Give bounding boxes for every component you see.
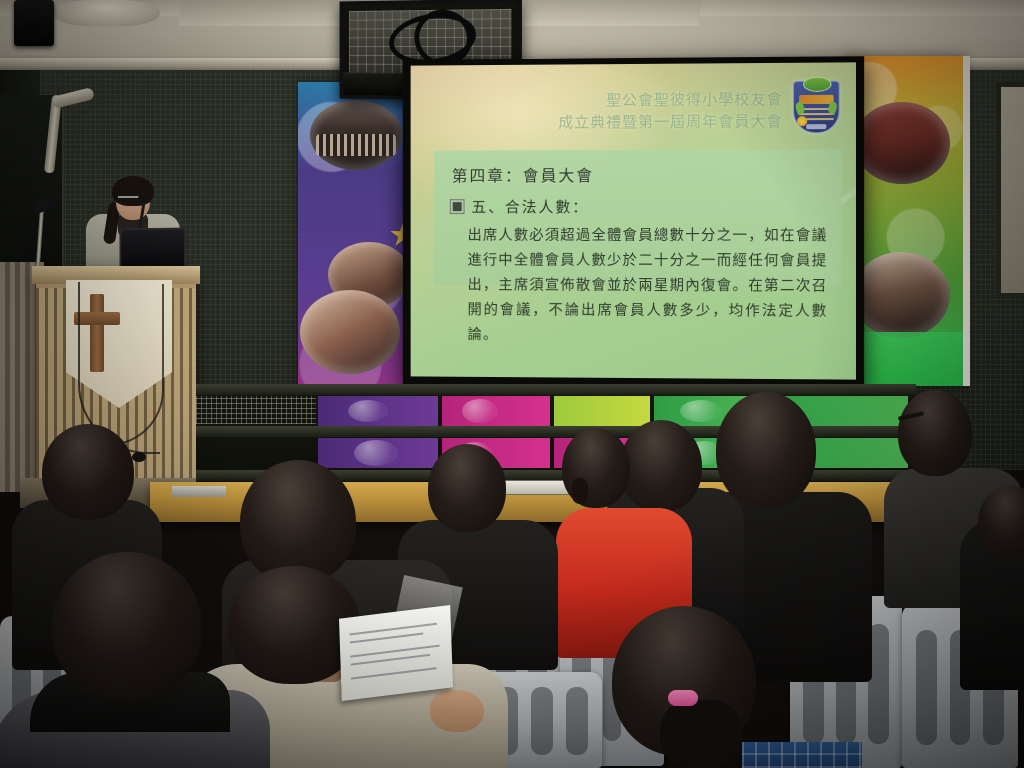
presentation-room-photo: 聖公會聖彼得小學校友會 成立典禮暨第一屆周年會員大會 第四章：會員大會 五、合法… — [0, 0, 1024, 768]
attendee-head — [716, 392, 816, 508]
panel-bubble — [462, 399, 498, 423]
square-bullet-icon — [450, 199, 465, 214]
attendee-blue-plaid — [742, 742, 862, 768]
attendee-head — [898, 390, 972, 476]
attendee-hand — [430, 690, 484, 732]
school-crest — [793, 81, 840, 134]
slide-paragraph: 出席人數必須超過全體會員總數十分之一，如在會議進行中全體會員人數少於二十分之一而… — [468, 224, 828, 350]
attendee-head — [428, 444, 506, 532]
wall-speaker — [14, 0, 54, 46]
banner-photo-bubble — [300, 290, 400, 374]
banner-photo-bubble — [310, 100, 402, 170]
cable-knot — [132, 452, 146, 462]
pink-hair-tie — [668, 690, 698, 706]
attendee-ponytail — [572, 478, 588, 504]
rail-panel-purple — [318, 396, 438, 426]
ceiling-fan — [52, 0, 160, 26]
panel-bubble — [354, 440, 398, 466]
banner-edge — [963, 56, 970, 386]
wall-picture-frame — [996, 82, 1024, 298]
slide-title-line-1: 聖公會聖彼得小學校友會 — [483, 89, 783, 112]
projection-screen-frame: 聖公會聖彼得小學校友會 成立典禮暨第一屆周年會員大會 第四章：會員大會 五、合法… — [403, 56, 864, 390]
slide-content-panel: 第四章：會員大會 五、合法人數： 出席人數必須超過全體會員總數十分之一，如在會議… — [434, 149, 842, 286]
slide-title-line-2: 成立典禮暨第一屆周年會員大會 — [483, 111, 783, 134]
banner-photo-bubble — [854, 102, 950, 184]
presenter-laptop — [120, 227, 187, 270]
attendee-head — [42, 424, 134, 520]
projection-screen: 聖公會聖彼得小學校友會 成立典禮暨第一屆周年會員大會 第四章：會員大會 五、合法… — [411, 62, 856, 379]
slide-chapter-heading: 第四章：會員大會 — [452, 161, 828, 186]
slide-bullet-heading: 五、合法人數： — [471, 196, 589, 217]
panel-bubble — [680, 400, 722, 422]
crest-year — [806, 124, 826, 129]
slide-bullet-row: 五、合法人數： — [450, 196, 828, 217]
meeting-agenda-paper[interactable] — [339, 605, 453, 701]
document-text-line — [349, 623, 436, 636]
attendee-ponytail — [660, 700, 742, 768]
microphone-head-icon — [138, 194, 147, 203]
panel-bubble — [348, 400, 388, 422]
slide-title: 聖公會聖彼得小學校友會 成立典禮暨第一屆周年會員大會 — [483, 89, 783, 134]
rail-mesh — [196, 396, 316, 424]
rail-bar — [196, 384, 916, 395]
rail-panel-purple — [318, 438, 438, 468]
crest-top-emblem — [803, 77, 831, 92]
rail-panel-magenta — [442, 396, 550, 426]
banner-photo-bubble — [852, 252, 950, 338]
attendee-head — [52, 552, 202, 700]
attendee-head — [620, 420, 702, 512]
document-text-line — [350, 633, 424, 644]
document-text-line — [351, 667, 436, 679]
crest-band — [799, 95, 834, 104]
ledge-equipment — [172, 486, 226, 497]
rail-panel-lime — [554, 396, 650, 426]
